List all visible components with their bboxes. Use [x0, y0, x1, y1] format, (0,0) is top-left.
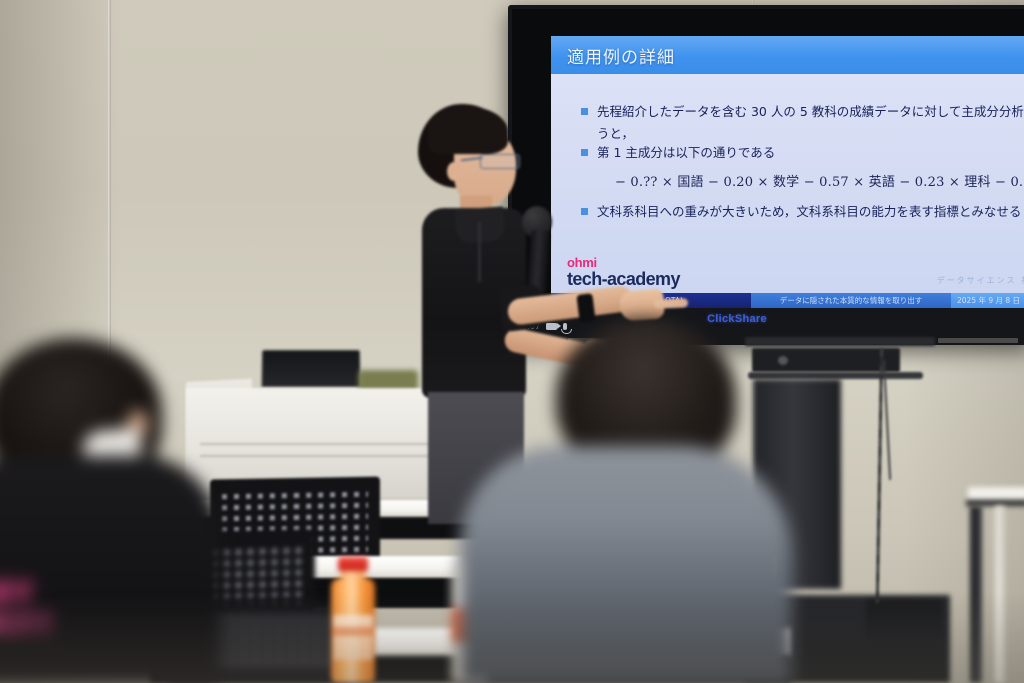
presenter-ear [447, 162, 461, 181]
slide-footnote: データサイエンス 基礎 [937, 275, 1024, 286]
bottle-cap [338, 557, 368, 571]
slide-closing-text: 文科系科目への重みが大きいため，文科系科目の能力を表す指標とみなせる [597, 202, 1021, 221]
bottle-neck [341, 570, 365, 580]
presentation-slide: 適用例の詳細 先程紹介したデータを含む 30 人の 5 教科の成績データに対して… [551, 36, 1024, 308]
slide-bullet-text: 先程紹介したデータを含む 30 人の 5 教科の成績データに対して主成分分析を行 [597, 102, 1024, 121]
slide-bullet-text: 第 1 主成分は以下の通りである [597, 143, 775, 162]
camera-lens-icon [778, 356, 788, 365]
slide-bullet: 先程紹介したデータを含む 30 人の 5 教科の成績データに対して主成分分析を行 [581, 102, 1024, 121]
lectern-groove [200, 455, 432, 457]
glasses-icon [480, 154, 520, 169]
lectern-groove [200, 443, 432, 445]
presenter-hair-front [428, 106, 508, 154]
status-date: 2025 年 9 月 8 日 [957, 295, 1020, 306]
presenter-index-finger [654, 298, 688, 309]
presenter-shirt-placket [478, 222, 481, 282]
slide-header-bar: 適用例の詳細 [551, 36, 1024, 74]
display-foot-right [938, 338, 1018, 343]
slide-bullet-continuation: うと， [581, 124, 1024, 143]
status-right: 2025 年 9 月 8 日 15 [951, 293, 1024, 308]
folded-table-top [968, 487, 1024, 501]
slide-bullet: 第 1 主成分は以下の通りである [581, 143, 1024, 162]
lecture-room-scene: ClickShare 適用例の詳細 先程紹介したデータを含む 30 人の 5 教… [0, 0, 1024, 683]
slide-body: 先程紹介したデータを含む 30 人の 5 教科の成績データに対して主成分分析を行… [551, 74, 1024, 260]
floor-shadow-band [0, 593, 1024, 683]
slide-formula: − 0.?? × 国語 − 0.20 × 数学 − 0.57 × 英語 − 0.… [615, 173, 1024, 193]
slide-title: 適用例の詳細 [551, 43, 675, 68]
status-subtitle: データに隠された本質的な情報を取り出す [751, 293, 951, 308]
laptop-on-lectern [262, 350, 361, 387]
slide-bullet: 文科系科目への重みが大きいため，文科系科目の能力を表す指標とみなせる [581, 202, 1024, 221]
